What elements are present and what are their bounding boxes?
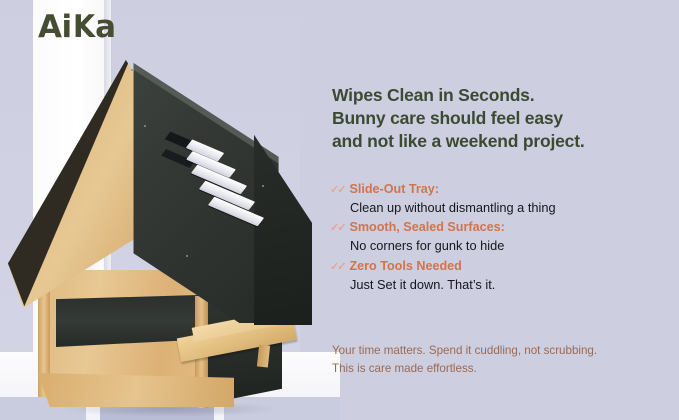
brand-logo-part-3: a [95, 9, 115, 45]
feature-title: Slide-Out Tray: [349, 180, 439, 199]
check-icon: ✓✓ [330, 185, 344, 196]
headline-line-2: Bunny care should feel easy [332, 107, 677, 130]
hutch-roof-side-panel [254, 93, 312, 325]
brand-logo-part-1: Ai [38, 9, 72, 45]
footer-line-1: Your time matters. Spend it cuddling, no… [332, 342, 672, 360]
hutch-ramp-leg [257, 344, 270, 367]
feature-title: Smooth, Sealed Surfaces: [349, 218, 504, 237]
feature-item: ✓✓ Slide-Out Tray: Clean up without dism… [330, 180, 670, 217]
hutch-base-bottom-rail [38, 373, 234, 407]
hutch-screw-4 [262, 185, 264, 187]
brand-logo: AiKa [38, 12, 116, 43]
brand-logo-part-2: K [73, 12, 95, 43]
hutch-screw-3 [186, 255, 188, 257]
footer-tagline: Your time matters. Spend it cuddling, no… [332, 342, 672, 378]
product-feature-banner: AiKa Wipes Clean in Seconds. Bunny care … [0, 0, 679, 420]
feature-heading-row: ✓✓ Smooth, Sealed Surfaces: [330, 218, 670, 237]
feature-list: ✓✓ Slide-Out Tray: Clean up without dism… [330, 180, 670, 295]
headline-line-1: Wipes Clean in Seconds. [332, 84, 677, 107]
feature-item: ✓✓ Zero Tools Needed Just Set it down. T… [330, 257, 670, 294]
feature-subtitle: Just Set it down. That’s it. [330, 276, 670, 295]
hutch-screw-2 [144, 125, 146, 127]
feature-title: Zero Tools Needed [349, 257, 461, 276]
check-icon: ✓✓ [330, 262, 344, 273]
check-icon: ✓✓ [330, 223, 344, 234]
product-image-rabbit-hutch [0, 55, 330, 420]
feature-heading-row: ✓✓ Zero Tools Needed [330, 257, 670, 276]
feature-heading-row: ✓✓ Slide-Out Tray: [330, 180, 670, 199]
feature-subtitle: Clean up without dismantling a thing [330, 199, 670, 218]
marketing-copy-column: Wipes Clean in Seconds. Bunny care shoul… [330, 0, 679, 420]
headline: Wipes Clean in Seconds. Bunny care shoul… [332, 84, 677, 153]
footer-line-2: This is care made effortless. [332, 360, 672, 378]
headline-line-3: and not like a weekend project. [332, 130, 677, 153]
feature-item: ✓✓ Smooth, Sealed Surfaces: No corners f… [330, 218, 670, 255]
feature-subtitle: No corners for gunk to hide [330, 237, 670, 256]
hutch-screw-1 [131, 69, 133, 71]
